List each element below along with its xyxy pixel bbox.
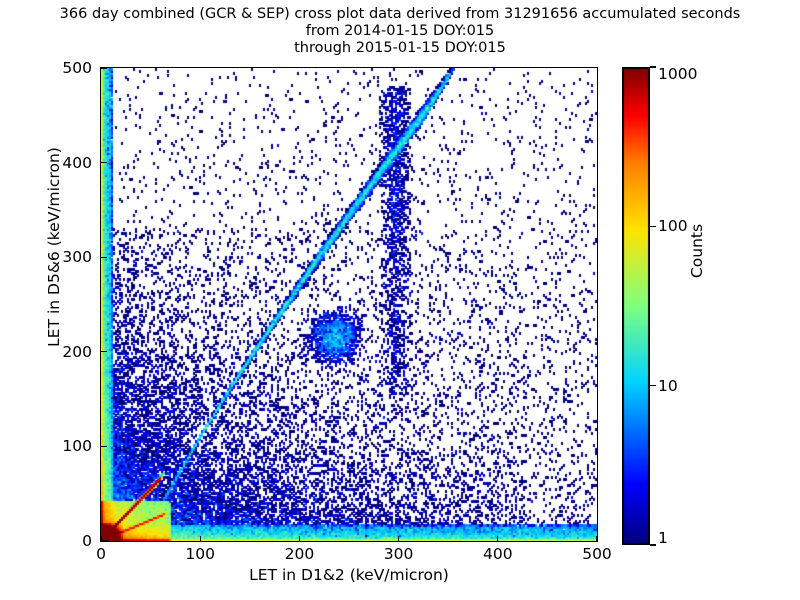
colorbar-tick-label: 1: [658, 529, 668, 547]
x-tick-label: 300: [384, 545, 414, 563]
y-tick-mark: [101, 257, 107, 258]
y-tick-mark: [101, 351, 107, 352]
chart-title: 366 day combined (GCR & SEP) cross plot …: [0, 6, 800, 57]
colorbar-tick-mark: [650, 385, 656, 386]
colorbar-tick-mark: [650, 226, 656, 227]
x-tick-mark: [200, 536, 201, 542]
x-tick-mark: [596, 536, 597, 542]
y-tick-mark: [101, 67, 107, 68]
title-line-2: from 2014-01-15 DOY:015: [0, 23, 800, 40]
colorbar-label: Counts: [688, 151, 706, 351]
colorbar-tick-mark: [650, 66, 656, 67]
title-line-3: through 2015-01-15 DOY:015: [0, 40, 800, 57]
x-tick-mark: [299, 536, 300, 542]
colorbar-container[interactable]: [622, 67, 650, 545]
x-tick-mark: [497, 536, 498, 542]
x-tick-label: 200: [285, 545, 315, 563]
y-tick-label: 100: [42, 437, 92, 455]
y-tick-mark: [101, 162, 107, 163]
x-tick-label: 500: [582, 545, 612, 563]
y-axis-label: LET in D5&6 (keV/micron): [45, 67, 63, 427]
x-axis-label: LET in D1&2 (keV/micron): [0, 566, 698, 584]
title-line-1: 366 day combined (GCR & SEP) cross plot …: [0, 6, 800, 23]
colorbar-tick-label: 1000: [658, 65, 697, 83]
colorbar-tick-label: 10: [658, 377, 678, 395]
x-tick-label: 400: [483, 545, 513, 563]
y-tick-label: 0: [42, 532, 92, 550]
colorbar-tick-mark: [650, 544, 656, 545]
y-tick-mark: [101, 540, 107, 541]
density-heatmap[interactable]: [101, 68, 597, 541]
plot-area[interactable]: [100, 67, 598, 542]
x-tick-label: 0: [96, 545, 106, 563]
x-tick-mark: [398, 536, 399, 542]
colorbar-gradient[interactable]: [622, 67, 650, 545]
colorbar-tick-label: 100: [658, 217, 688, 235]
x-tick-label: 100: [185, 545, 215, 563]
y-tick-mark: [101, 446, 107, 447]
